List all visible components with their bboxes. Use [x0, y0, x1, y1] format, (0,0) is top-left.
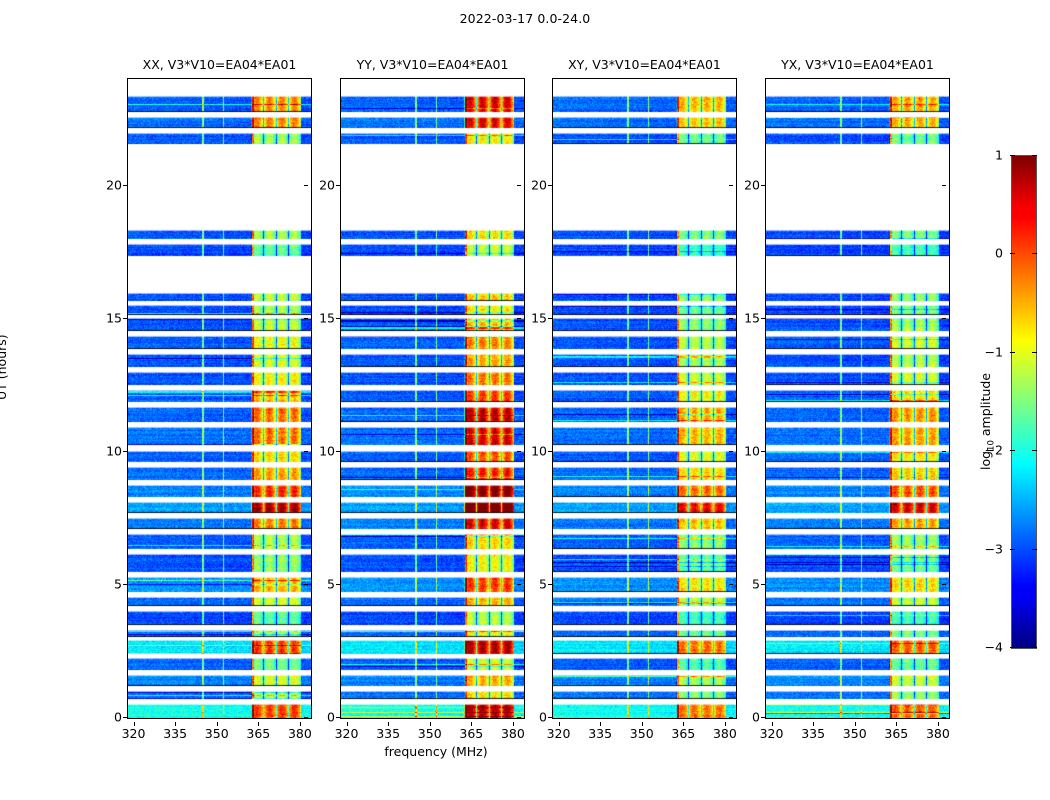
- x-tick-label: 320: [122, 726, 146, 741]
- y-tick-mark-right: [942, 185, 946, 186]
- x-tick-label: 320: [547, 726, 571, 741]
- y-tick-mark: [548, 717, 552, 718]
- colorbar-tick-label: 1: [970, 148, 1003, 163]
- y-tick-label: 10: [319, 443, 335, 458]
- panel-title-yy: YY, V3*V10=EA04*EA01: [340, 57, 525, 72]
- waterfall-panel-xx[interactable]: [127, 78, 312, 719]
- colorbar-tick-label: −1: [970, 344, 1003, 359]
- x-tick-mark: [642, 722, 643, 726]
- x-tick-mark: [813, 722, 814, 726]
- x-tick-mark: [938, 722, 939, 726]
- x-tick-label: 350: [843, 726, 867, 741]
- x-tick-label: 365: [884, 726, 908, 741]
- colorbar-tick-mark: [1010, 352, 1015, 353]
- x-tick-mark: [772, 722, 773, 726]
- y-tick-mark: [123, 717, 127, 718]
- x-tick-mark: [896, 722, 897, 726]
- x-tick-mark: [725, 722, 726, 726]
- x-tick-label: 335: [588, 726, 612, 741]
- y-tick-mark-right: [942, 584, 946, 585]
- x-tick-label: 365: [459, 726, 483, 741]
- colorbar-tick-label: 0: [970, 246, 1003, 261]
- colorbar-label-prefix: log: [978, 451, 993, 470]
- y-tick-label: 20: [744, 177, 760, 192]
- colorbar-tick-mark: [1010, 155, 1015, 156]
- y-tick-label: 20: [319, 177, 335, 192]
- y-tick-label: 10: [531, 443, 547, 458]
- y-tick-mark-right: [942, 717, 946, 718]
- x-tick-mark: [134, 722, 135, 726]
- y-tick-mark: [123, 584, 127, 585]
- y-tick-mark: [336, 318, 340, 319]
- y-axis-ticks-yy: 05101520: [300, 78, 340, 719]
- colorbar-tick-mark-right: [1032, 155, 1037, 156]
- y-tick-mark: [548, 185, 552, 186]
- y-tick-label: 20: [531, 177, 547, 192]
- x-tick-mark: [855, 722, 856, 726]
- waterfall-panel-yy[interactable]: [340, 78, 525, 719]
- x-axis-ticks-xx: 320335350365380: [127, 722, 312, 742]
- x-tick-mark: [683, 722, 684, 726]
- x-tick-label: 350: [630, 726, 654, 741]
- y-tick-mark: [761, 584, 765, 585]
- y-tick-mark: [548, 318, 552, 319]
- x-tick-label: 335: [801, 726, 825, 741]
- y-tick-mark: [336, 185, 340, 186]
- y-tick-mark-right: [942, 318, 946, 319]
- x-axis-label: frequency (MHz): [0, 744, 872, 759]
- y-tick-label: 0: [327, 710, 335, 725]
- colorbar-tick-label: −4: [970, 640, 1003, 655]
- y-tick-mark: [761, 451, 765, 452]
- x-tick-mark: [513, 722, 514, 726]
- y-tick-mark: [123, 318, 127, 319]
- y-tick-mark: [761, 185, 765, 186]
- y-tick-mark: [336, 451, 340, 452]
- x-tick-mark: [600, 722, 601, 726]
- x-tick-label: 380: [713, 726, 737, 741]
- x-tick-label: 335: [163, 726, 187, 741]
- y-tick-label: 15: [744, 310, 760, 325]
- x-tick-label: 350: [418, 726, 442, 741]
- y-tick-label: 0: [539, 710, 547, 725]
- x-tick-mark: [559, 722, 560, 726]
- colorbar-label-suffix: amplitude: [978, 373, 993, 440]
- x-tick-label: 380: [288, 726, 312, 741]
- y-tick-label: 10: [106, 443, 122, 458]
- panel-title-yx: YX, V3*V10=EA04*EA01: [765, 57, 950, 72]
- y-tick-mark: [548, 451, 552, 452]
- y-tick-label: 0: [752, 710, 760, 725]
- waterfall-panel-xy[interactable]: [552, 78, 737, 719]
- x-tick-mark: [388, 722, 389, 726]
- x-tick-mark: [217, 722, 218, 726]
- y-axis-ticks-xy: 05101520: [512, 78, 552, 719]
- x-axis-ticks-xy: 320335350365380: [552, 722, 737, 742]
- y-tick-mark: [761, 717, 765, 718]
- y-tick-label: 5: [539, 576, 547, 591]
- x-tick-label: 365: [671, 726, 695, 741]
- colorbar-tick-mark-right: [1032, 352, 1037, 353]
- x-tick-mark: [300, 722, 301, 726]
- colorbar-tick-mark-right: [1032, 253, 1037, 254]
- y-tick-mark: [761, 318, 765, 319]
- x-tick-mark: [471, 722, 472, 726]
- y-axis-ticks-yx: 05101520: [725, 78, 765, 719]
- panel-title-xx: XX, V3*V10=EA04*EA01: [127, 57, 312, 72]
- x-tick-label: 350: [205, 726, 229, 741]
- y-tick-mark: [123, 451, 127, 452]
- x-axis-ticks-yy: 320335350365380: [340, 722, 525, 742]
- colorbar-label-subscript: 10: [987, 440, 997, 451]
- colorbar-tick-mark: [1010, 549, 1015, 550]
- y-tick-label: 15: [106, 310, 122, 325]
- x-tick-label: 335: [376, 726, 400, 741]
- colorbar-tick-mark: [1010, 647, 1015, 648]
- x-tick-mark: [347, 722, 348, 726]
- colorbar-label: log10 amplitude: [978, 373, 997, 470]
- y-tick-mark-right: [942, 451, 946, 452]
- x-tick-label: 380: [501, 726, 525, 741]
- y-tick-label: 5: [327, 576, 335, 591]
- x-axis-ticks-yx: 320335350365380: [765, 722, 950, 742]
- y-tick-label: 15: [531, 310, 547, 325]
- y-tick-label: 5: [114, 576, 122, 591]
- y-tick-mark: [336, 584, 340, 585]
- panel-title-xy: XY, V3*V10=EA04*EA01: [552, 57, 737, 72]
- y-tick-label: 5: [752, 576, 760, 591]
- x-tick-label: 320: [335, 726, 359, 741]
- y-tick-mark: [548, 584, 552, 585]
- y-tick-mark: [336, 717, 340, 718]
- figure-suptitle: 2022-03-17 0.0-24.0: [0, 11, 1050, 26]
- colorbar-tick-mark: [1010, 450, 1015, 451]
- y-axis-label: UT (hours): [0, 334, 9, 400]
- y-axis-ticks-xx: 05101520: [87, 78, 127, 719]
- colorbar-tick-mark-right: [1032, 549, 1037, 550]
- x-tick-mark: [175, 722, 176, 726]
- y-tick-label: 10: [744, 443, 760, 458]
- y-tick-label: 20: [106, 177, 122, 192]
- waterfall-panel-yx[interactable]: [765, 78, 950, 719]
- x-tick-label: 320: [760, 726, 784, 741]
- y-tick-label: 0: [114, 710, 122, 725]
- y-tick-mark: [123, 185, 127, 186]
- x-tick-mark: [430, 722, 431, 726]
- x-tick-label: 380: [926, 726, 950, 741]
- colorbar-tick-mark-right: [1032, 647, 1037, 648]
- colorbar-tick-mark: [1010, 253, 1015, 254]
- x-tick-label: 365: [246, 726, 270, 741]
- colorbar-tick-label: −3: [970, 541, 1003, 556]
- y-tick-label: 15: [319, 310, 335, 325]
- figure-canvas: 2022-03-17 0.0-24.0 XX, V3*V10=EA04*EA01…: [0, 0, 1050, 800]
- colorbar-tick-mark-right: [1032, 450, 1037, 451]
- x-tick-mark: [258, 722, 259, 726]
